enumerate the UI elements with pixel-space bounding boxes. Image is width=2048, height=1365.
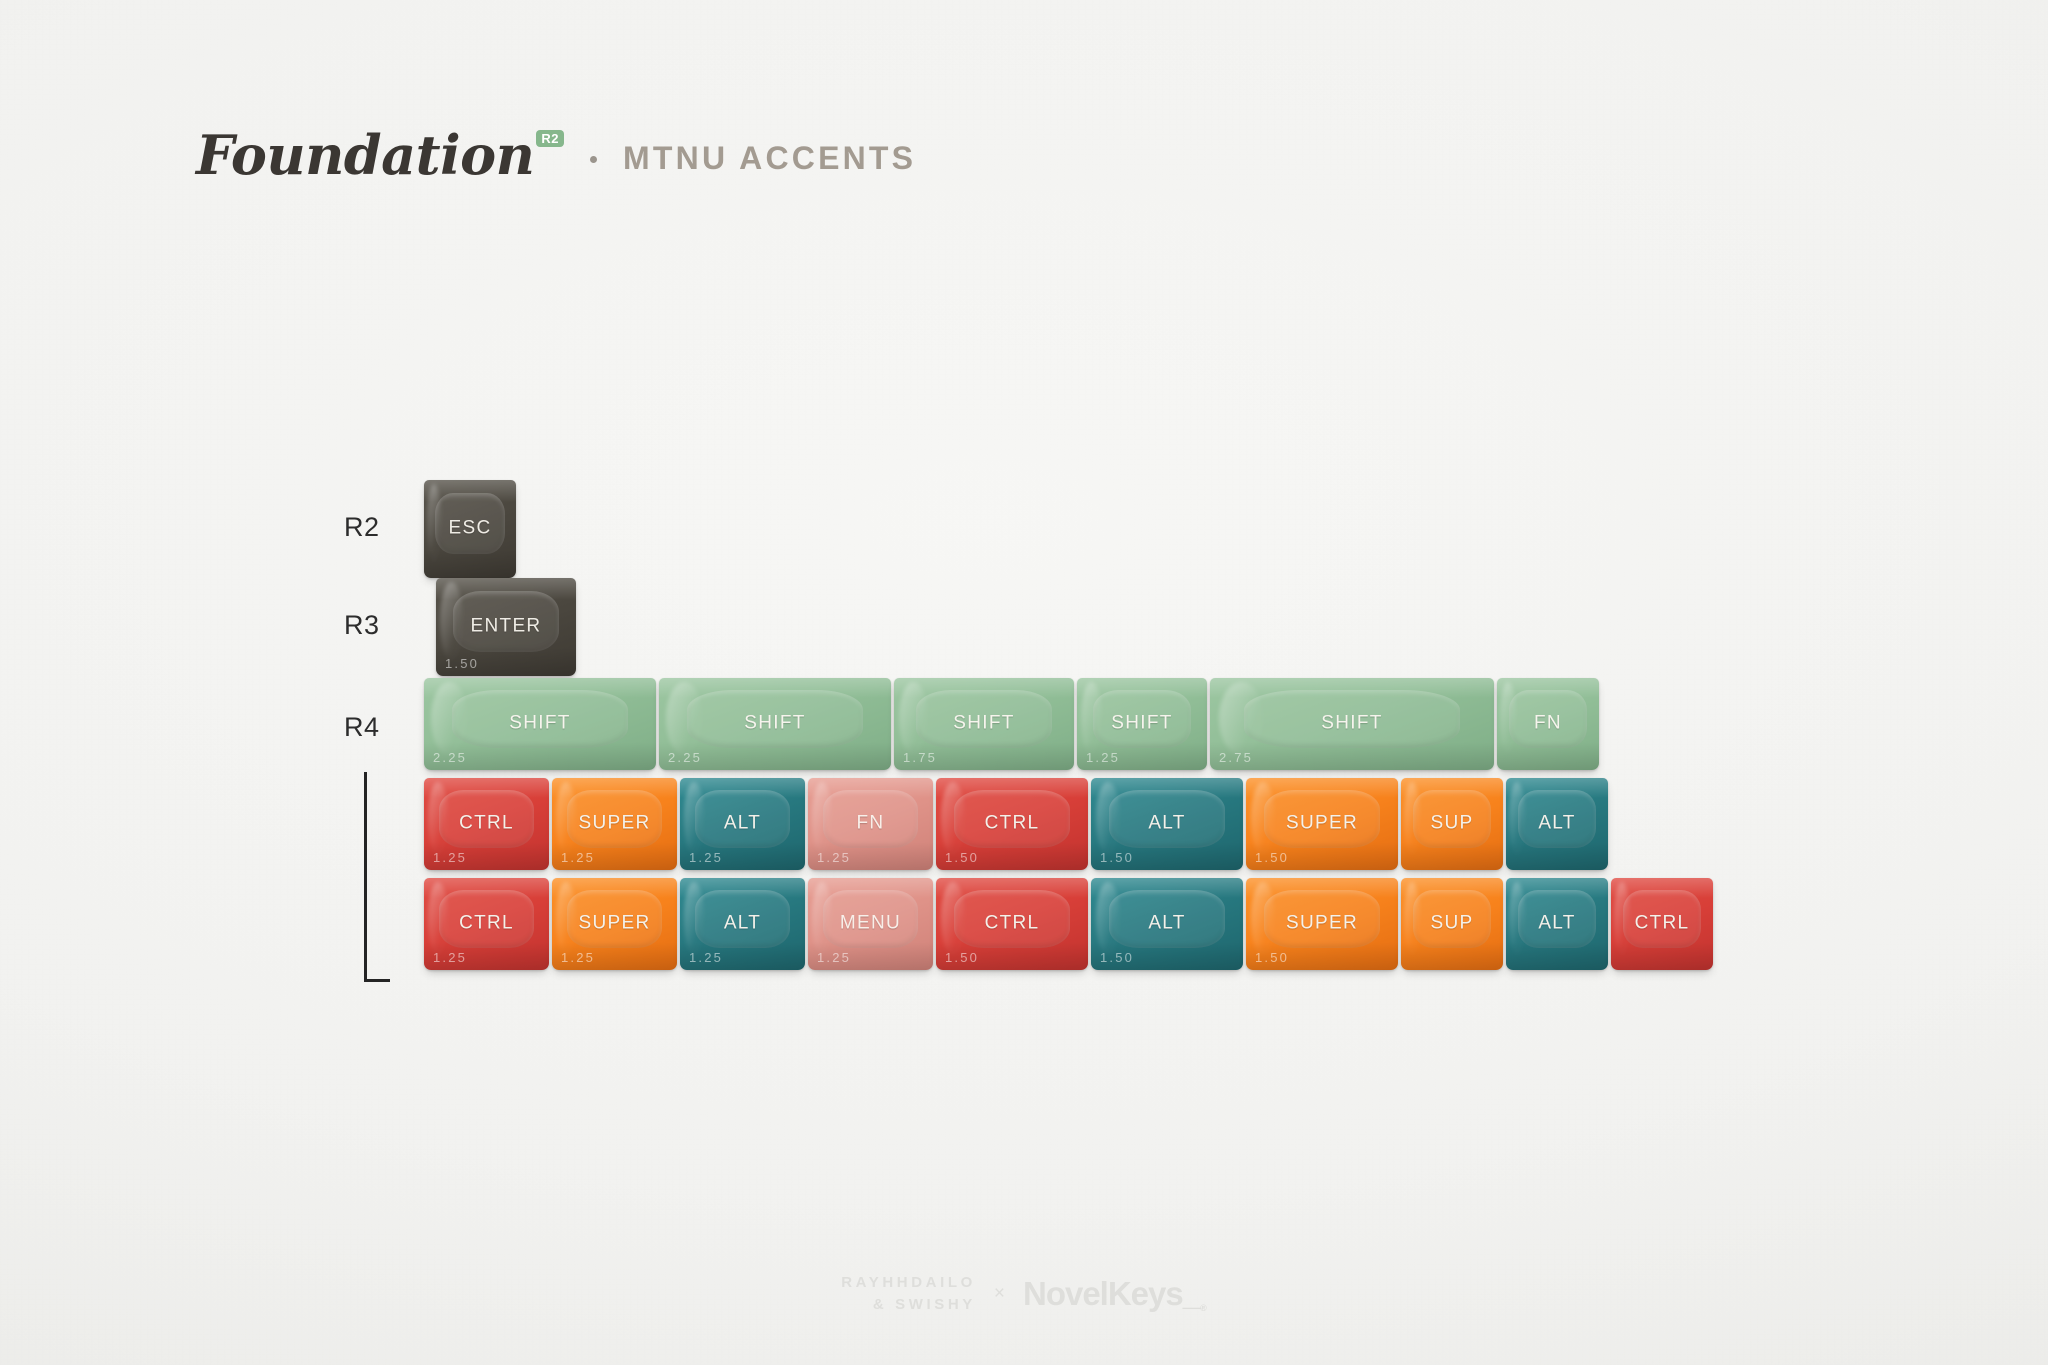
keycap-shade [808, 842, 933, 870]
keycap-face [453, 591, 559, 653]
keycap-shade [1210, 742, 1494, 770]
keycap-gloss [1251, 782, 1275, 856]
keycap-top-highlight [1246, 878, 1398, 898]
keycap-alt-a1[interactable]: ALT 1.25 [680, 778, 805, 870]
keycap-size-label: 1.25 [1086, 750, 1120, 765]
keycap-size-label: 1.25 [433, 950, 467, 965]
keycap-face [567, 890, 662, 948]
keycap-shade [936, 842, 1088, 870]
keycap-fn-r4[interactable]: FN [1497, 678, 1599, 770]
keycap-shift-5[interactable]: SHIFT 2.75 [1210, 678, 1494, 770]
keycap-face [695, 890, 790, 948]
keycap-ctrl-a1[interactable]: CTRL 1.25 [424, 778, 549, 870]
designer-credit: RAYHHDAILO & SWISHY [841, 1272, 976, 1316]
keycap-size-label: 1.25 [561, 950, 595, 965]
keycap-legend: ENTER [436, 616, 576, 638]
vendor-logo-text: NovelKeys [1023, 1275, 1183, 1313]
keycap-shade [1246, 842, 1398, 870]
keycap-gloss [440, 582, 462, 660]
keycap-gloss [941, 782, 965, 856]
keycap-ctrl-b2[interactable]: CTRL 1.50 [936, 878, 1088, 970]
keycap-top-highlight [936, 778, 1088, 798]
keycap-size-label: 1.25 [689, 950, 723, 965]
keycap-top-highlight [552, 878, 677, 898]
keycap-top-highlight [424, 778, 549, 798]
vendor-logo-underscore: _ [1183, 1275, 1200, 1313]
keycap-gloss [1509, 782, 1525, 856]
keycap-face [823, 890, 918, 948]
keycap-top-highlight [1091, 878, 1243, 898]
keycap-legend: SHIFT [894, 713, 1074, 735]
keycap-shade [808, 942, 933, 970]
keycap-top-highlight [424, 678, 656, 698]
page-footer: RAYHHDAILO & SWISHY × NovelKeys_® [0, 1272, 2048, 1316]
page-header: Foundation R2 MTNU ACCENTS [196, 128, 916, 182]
keycap-shift-3[interactable]: SHIFT 1.75 [894, 678, 1074, 770]
keycap-shade [424, 842, 549, 870]
keycap-shade [424, 942, 549, 970]
keycap-super-a1[interactable]: SUPER 1.25 [552, 778, 677, 870]
keycap-size-label: 2.25 [433, 750, 467, 765]
page-title: Foundation [196, 128, 534, 182]
keycap-face [823, 790, 918, 848]
keycap-shade [1091, 842, 1243, 870]
keycap-size-label: 1.50 [1255, 850, 1289, 865]
keycap-shade [1401, 842, 1503, 870]
keycap-face [1244, 690, 1460, 748]
keycap-top-highlight [424, 480, 516, 502]
vendor-logo: NovelKeys_® [1023, 1275, 1207, 1313]
key-row-mod-b: CTRL 1.25 SUPER 1.25 ALT 1.25 MENU 1.25 [424, 878, 1713, 970]
keycap-legend: MENU [808, 913, 933, 935]
keycap-face [1509, 690, 1587, 748]
keycap-gloss [556, 782, 576, 856]
keycap-gloss [427, 484, 442, 562]
keycap-enter[interactable]: ENTER 1.50 [436, 578, 576, 676]
keycap-top-highlight [1091, 778, 1243, 798]
keycap-size-label: 1.50 [945, 850, 979, 865]
keycap-shift-2[interactable]: SHIFT 2.25 [659, 678, 891, 770]
keycap-shade [1497, 742, 1599, 770]
keycap-gloss [684, 882, 704, 956]
row-label-r3: R3 [344, 610, 380, 641]
keycap-shade [436, 647, 576, 676]
keycap-gloss [1096, 882, 1120, 956]
keycap-shade [552, 842, 677, 870]
keycap-legend: ALT [1506, 913, 1608, 935]
keycap-gloss [428, 882, 448, 956]
keycap-top-highlight [1401, 778, 1503, 798]
keycap-top-highlight [1506, 878, 1608, 898]
keycap-legend: ALT [1091, 913, 1243, 935]
keycap-gloss [431, 682, 468, 756]
keycap-alt-a2[interactable]: ALT 1.50 [1091, 778, 1243, 870]
keycap-shade [936, 942, 1088, 970]
keycap-shade [552, 942, 677, 970]
keycap-gloss [1081, 682, 1102, 756]
keycap-size-label: 1.25 [433, 850, 467, 865]
keycap-gloss [941, 882, 965, 956]
keycap-face [954, 790, 1070, 848]
keycap-top-highlight [1611, 878, 1713, 898]
keycap-legend: ALT [1506, 813, 1608, 835]
keycap-top-highlight [1210, 678, 1494, 698]
keycap-sup-b1[interactable]: SUP [1401, 878, 1503, 970]
brand-lockup: Foundation R2 [196, 128, 564, 182]
keycap-gloss [428, 782, 448, 856]
keycap-legend: SUPER [1246, 813, 1398, 835]
keycap-legend: CTRL [936, 813, 1088, 835]
keycap-alt-b3[interactable]: ALT [1506, 878, 1608, 970]
keycap-legend: CTRL [1611, 913, 1713, 935]
keycap-shade [1077, 742, 1207, 770]
keycap-ctrl-b3[interactable]: CTRL [1611, 878, 1713, 970]
keycap-size-label: 1.50 [445, 656, 479, 671]
keycap-face [1264, 890, 1380, 948]
keycap-super-a2[interactable]: SUPER 1.50 [1246, 778, 1398, 870]
keycap-top-highlight [1506, 778, 1608, 798]
keycap-shade [894, 742, 1074, 770]
keycap-top-highlight [1401, 878, 1503, 898]
keycap-top-highlight [436, 578, 576, 600]
keycap-esc[interactable]: ESC [424, 480, 516, 578]
key-row-r2: ESC [424, 480, 516, 578]
keycap-legend: ALT [1091, 813, 1243, 835]
keycap-face [567, 790, 662, 848]
keycap-shade [659, 742, 891, 770]
keycap-top-highlight [894, 678, 1074, 698]
row-label-r4: R4 [344, 712, 380, 743]
keycap-face [954, 890, 1070, 948]
keycap-gloss [1614, 882, 1630, 956]
keycap-super-b1[interactable]: SUPER 1.25 [552, 878, 677, 970]
keycap-top-highlight [936, 878, 1088, 898]
row-label-r2: R2 [344, 512, 380, 543]
keycap-top-highlight [552, 778, 677, 798]
keycap-menu-b1[interactable]: MENU 1.25 [808, 878, 933, 970]
keycap-shade [1506, 942, 1608, 970]
keycap-size-label: 1.50 [945, 950, 979, 965]
keycap-shift-1[interactable]: SHIFT 2.25 [424, 678, 656, 770]
keycap-shade [1246, 942, 1398, 970]
keycap-gloss [812, 882, 832, 956]
page-subtitle: MTNU ACCENTS [623, 140, 916, 177]
keycap-size-label: 1.25 [817, 950, 851, 965]
keycap-legend: CTRL [936, 913, 1088, 935]
keycap-gloss [1251, 882, 1275, 956]
keycap-shift-4[interactable]: SHIFT 1.25 [1077, 678, 1207, 770]
keycap-legend: SUPER [552, 913, 677, 935]
keycap-face [435, 493, 505, 555]
keycap-gloss [899, 682, 928, 756]
keycap-legend: SHIFT [1210, 713, 1494, 735]
keycap-alt-b1[interactable]: ALT 1.25 [680, 878, 805, 970]
keycap-size-label: 2.25 [668, 750, 702, 765]
key-row-mod-a: CTRL 1.25 SUPER 1.25 ALT 1.25 FN 1.25 [424, 778, 1608, 870]
keycap-legend: CTRL [424, 813, 549, 835]
keycap-face [1413, 790, 1491, 848]
key-row-r4: SHIFT 2.25 SHIFT 2.25 SHIFT 1.75 SHIFT 1… [424, 678, 1599, 770]
keycap-legend: SHIFT [1077, 713, 1207, 735]
keycap-shade [680, 842, 805, 870]
keycap-gloss [1404, 782, 1420, 856]
keycap-legend: SUP [1401, 813, 1503, 835]
keycap-face [695, 790, 790, 848]
keycap-legend: SUP [1401, 913, 1503, 935]
keycap-face [439, 890, 534, 948]
keycap-top-highlight [680, 778, 805, 798]
keycap-legend: ALT [680, 813, 805, 835]
keycap-face [452, 690, 628, 748]
keycap-face [1264, 790, 1380, 848]
keycap-legend: SHIFT [659, 713, 891, 735]
keycap-legend: SUPER [552, 813, 677, 835]
keycap-alt-b2[interactable]: ALT 1.50 [1091, 878, 1243, 970]
keycap-legend: FN [808, 813, 933, 835]
keycap-face [1109, 890, 1225, 948]
keycap-gloss [1509, 882, 1525, 956]
keycap-legend: ALT [680, 913, 805, 935]
keycap-size-label: 1.25 [689, 850, 723, 865]
keycap-ctrl-a2[interactable]: CTRL 1.50 [936, 778, 1088, 870]
keycap-shade [680, 942, 805, 970]
keycap-top-highlight [808, 778, 933, 798]
keycap-shade [424, 742, 656, 770]
revision-badge: R2 [536, 130, 564, 147]
keycap-face [1109, 790, 1225, 848]
keycap-size-label: 2.75 [1219, 750, 1253, 765]
keycap-face [1623, 890, 1701, 948]
keycap-face [687, 690, 863, 748]
keycap-top-highlight [424, 878, 549, 898]
keycap-face [916, 690, 1053, 748]
keycap-top-highlight [808, 878, 933, 898]
keycap-shade [1506, 842, 1608, 870]
designer-name-line1: RAYHHDAILO [841, 1272, 976, 1294]
keycap-shade [1401, 942, 1503, 970]
keycap-face [439, 790, 534, 848]
keycap-face [1518, 790, 1596, 848]
keycap-top-highlight [1497, 678, 1599, 698]
keycap-top-highlight [1077, 678, 1207, 698]
keycap-shade [1091, 942, 1243, 970]
keycap-gloss [1500, 682, 1516, 756]
keycap-top-highlight [659, 678, 891, 698]
keycap-gloss [666, 682, 703, 756]
keycap-legend: FN [1497, 713, 1599, 735]
keycap-fn-a1[interactable]: FN 1.25 [808, 778, 933, 870]
keycap-gloss [1219, 682, 1264, 756]
keycap-ctrl-b1[interactable]: CTRL 1.25 [424, 878, 549, 970]
keycap-legend: CTRL [424, 913, 549, 935]
keycap-legend: SHIFT [424, 713, 656, 735]
keycap-shade [424, 549, 516, 578]
keycap-legend: SUPER [1246, 913, 1398, 935]
keycap-size-label: 1.25 [561, 850, 595, 865]
keycap-legend: ESC [424, 518, 516, 540]
keycap-size-label: 1.25 [817, 850, 851, 865]
keycap-size-label: 1.50 [1100, 950, 1134, 965]
designer-name-line2: & SWISHY [841, 1294, 976, 1316]
keycap-size-label: 1.75 [903, 750, 937, 765]
keycap-gloss [684, 782, 704, 856]
keycap-gloss [812, 782, 832, 856]
key-row-r3: ENTER 1.50 [424, 578, 576, 676]
keycap-shade [1611, 942, 1713, 970]
keycap-top-highlight [680, 878, 805, 898]
keycap-top-highlight [1246, 778, 1398, 798]
keycap-face [1413, 890, 1491, 948]
registered-mark-icon: ® [1200, 1303, 1207, 1313]
keycap-super-b2[interactable]: SUPER 1.50 [1246, 878, 1398, 970]
keycap-gloss [556, 882, 576, 956]
collab-cross-icon: × [992, 1283, 1007, 1305]
keycap-size-label: 1.50 [1255, 950, 1289, 965]
keycap-face [1093, 690, 1192, 748]
keycap-face [1518, 890, 1596, 948]
keycap-gloss [1096, 782, 1120, 856]
keycap-alt-a3[interactable]: ALT [1506, 778, 1608, 870]
row-group-bracket [364, 772, 390, 982]
keycap-gloss [1404, 882, 1420, 956]
keycap-size-label: 1.50 [1100, 850, 1134, 865]
keycap-sup-a1[interactable]: SUP [1401, 778, 1503, 870]
separator-dot-icon [590, 156, 597, 163]
